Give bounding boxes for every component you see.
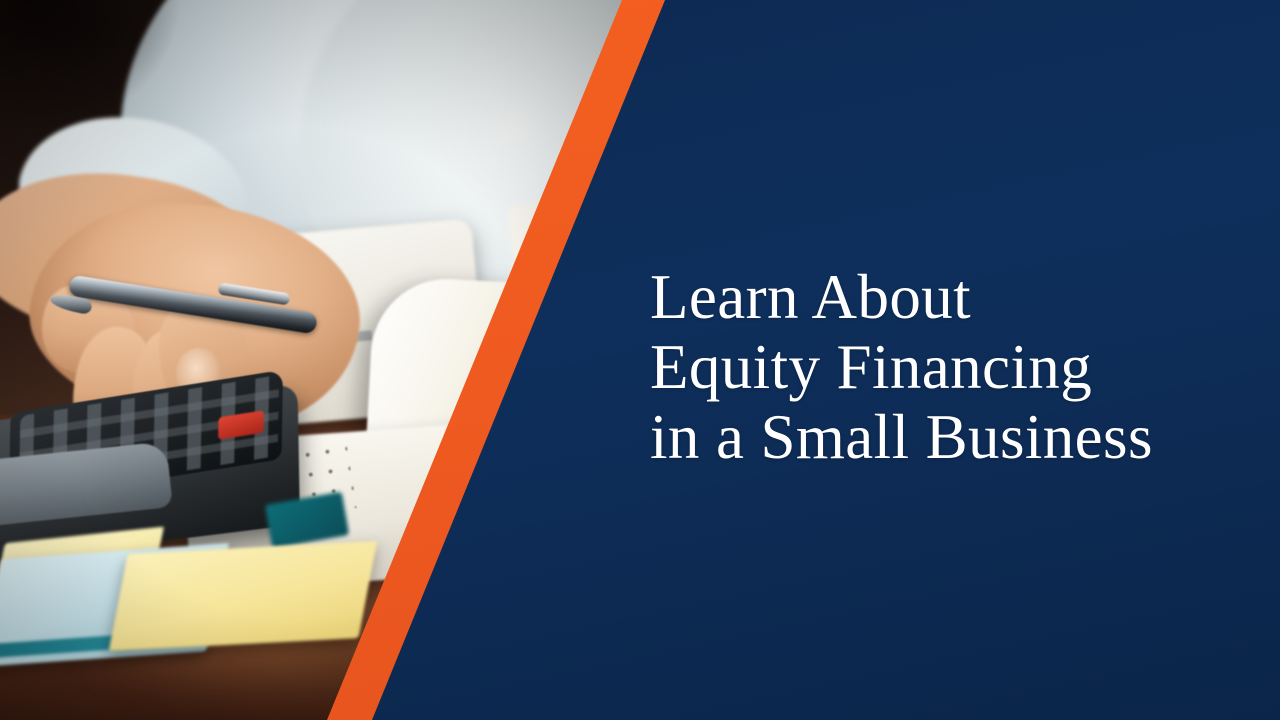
title-card: Learn About Equity Financing in a Small …	[0, 0, 1280, 720]
title-line-1: Learn About	[650, 262, 1250, 332]
title-block: Learn About Equity Financing in a Small …	[650, 262, 1250, 472]
sticky-note-yellow	[109, 541, 378, 651]
title-line-2: Equity Financing	[650, 332, 1250, 402]
title-line-3: in a Small Business	[650, 402, 1250, 472]
